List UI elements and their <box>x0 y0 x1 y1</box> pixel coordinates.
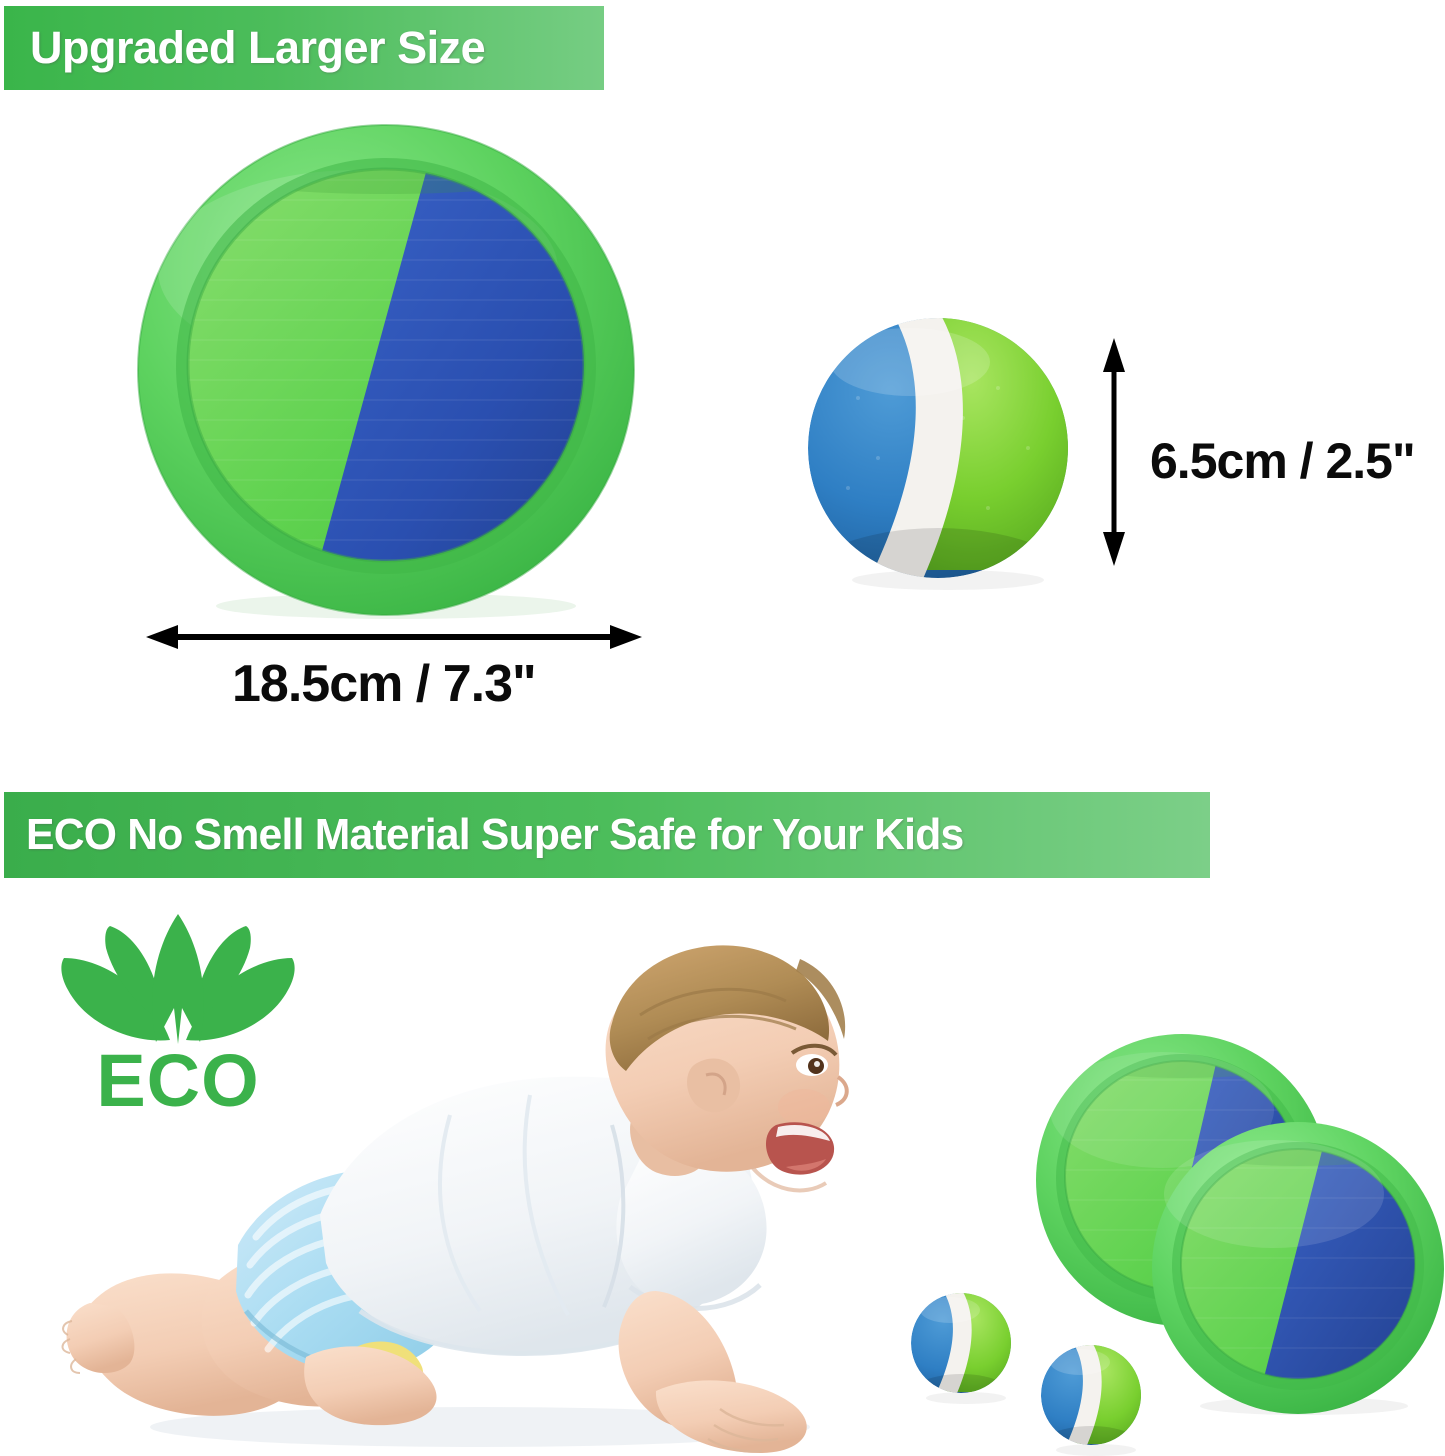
banner-eco-material-label: ECO No Smell Material Super Safe for You… <box>26 810 963 860</box>
banner-upgraded-size: Upgraded Larger Size <box>4 6 604 90</box>
banner-eco-material: ECO No Smell Material Super Safe for You… <box>4 792 1210 878</box>
dimension-arrow-ball-height <box>1088 336 1140 568</box>
dimension-label-ball-height: 6.5cm / 2.5" <box>1150 432 1415 490</box>
paddle-front <box>1148 1118 1445 1418</box>
dimension-label-paddle-width: 18.5cm / 7.3" <box>232 654 536 714</box>
ball-small-left <box>908 1290 1018 1405</box>
ball-small-right <box>1038 1342 1148 1456</box>
ball-large <box>798 308 1078 593</box>
dimension-arrow-paddle-width <box>144 614 644 654</box>
eco-logo-label: ECO <box>58 1044 298 1118</box>
eco-leaf-center <box>152 914 204 1044</box>
banner-upgraded-size-label: Upgraded Larger Size <box>30 22 485 74</box>
paddle-large <box>128 120 648 620</box>
eco-leaves-icon <box>58 912 298 1052</box>
product-infographic: Upgraded Larger Size <box>0 0 1445 1456</box>
eco-logo: ECO <box>58 912 298 1122</box>
